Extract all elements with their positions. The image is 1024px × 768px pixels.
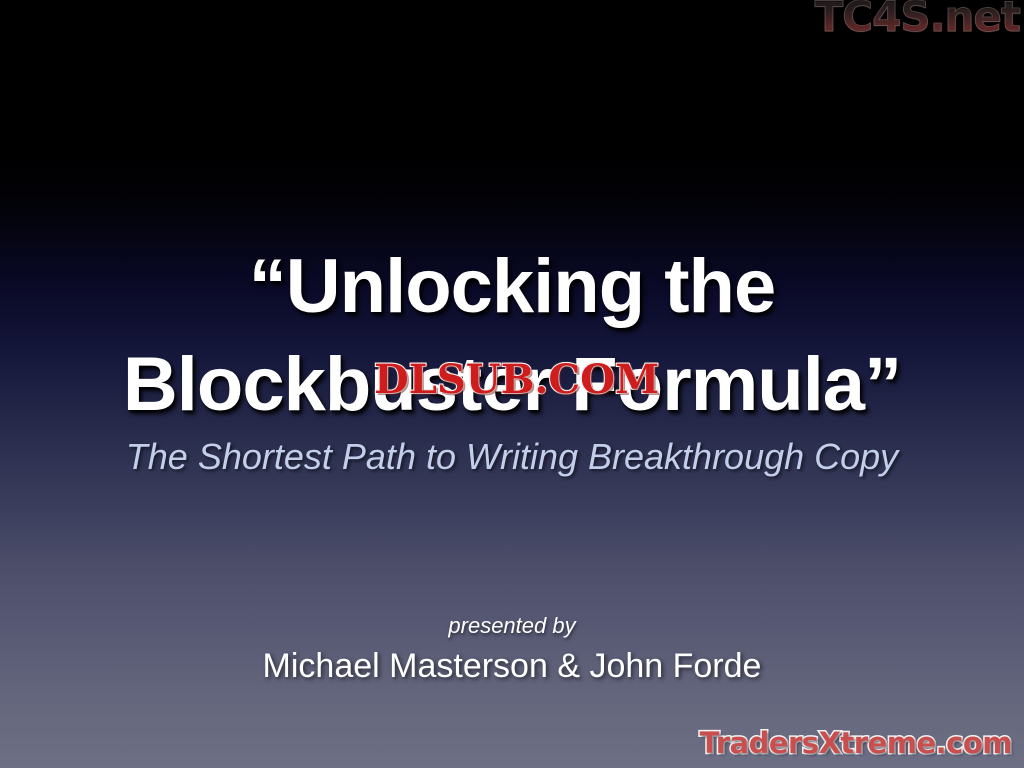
slide-title: “Unlocking the Blockbuster Formula” bbox=[0, 238, 1024, 434]
tradersxtreme-watermark: TradersXtreme.com bbox=[700, 726, 1012, 760]
dlsub-watermark-text: DLSUB.COM bbox=[374, 356, 659, 403]
presenter-names: Michael Masterson & John Forde bbox=[0, 644, 1024, 688]
dlsub-watermark: DLSUB.COM bbox=[374, 358, 659, 402]
slide-subtitle: The Shortest Path to Writing Breakthroug… bbox=[0, 434, 1024, 480]
title-line-1: “Unlocking the bbox=[0, 238, 1024, 336]
presented-by-label: presented by bbox=[0, 612, 1024, 640]
tc4s-watermark: TC4S.net bbox=[815, 0, 1020, 38]
title-slide: TC4S.net “Unlocking the Blockbuster Form… bbox=[0, 0, 1024, 768]
